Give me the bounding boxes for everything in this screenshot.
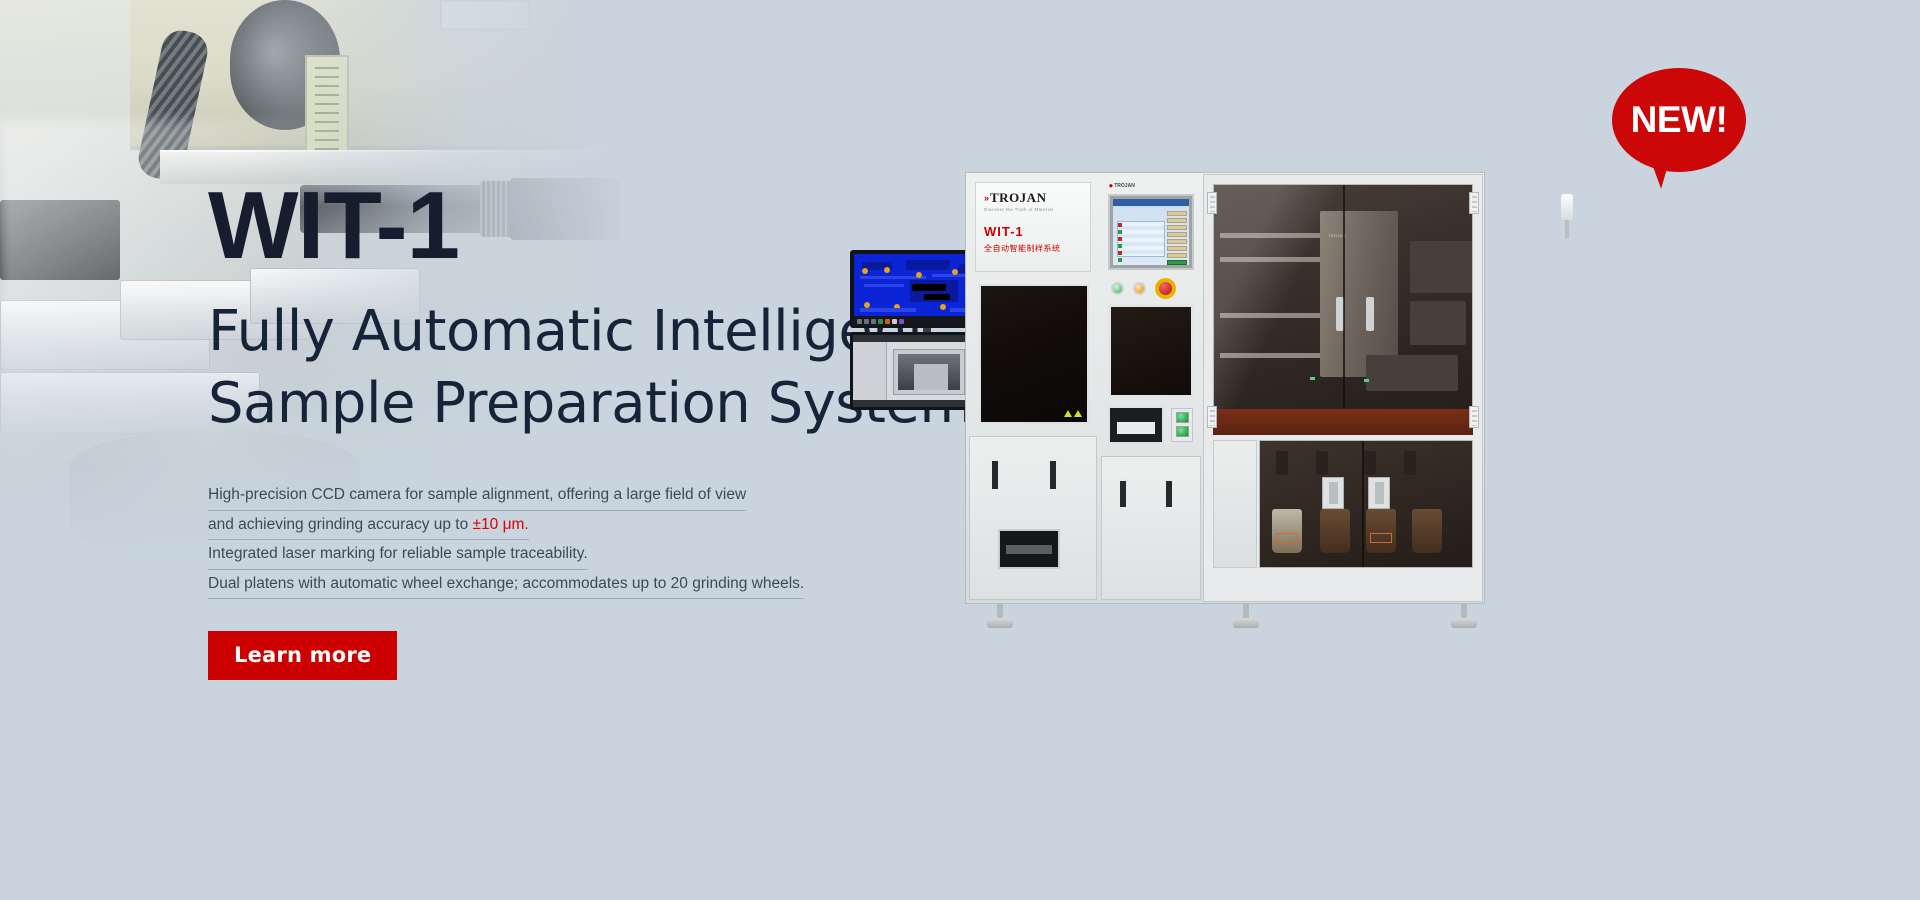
sample-access-slot (998, 529, 1060, 569)
door-hinge (1207, 192, 1217, 214)
module-control-panel: ◆ TROJAN (1101, 174, 1201, 602)
new-badge: NEW! (1612, 68, 1746, 172)
feature-item-2-highlight: ±10 μm. (473, 516, 529, 533)
lower-cabinet-door-left[interactable] (969, 436, 1097, 600)
door-handle[interactable] (1048, 459, 1058, 491)
door-hinge (1469, 192, 1479, 214)
reagent-bottle (1366, 509, 1396, 553)
page-title: Fully Automatic Intelligent Sample Prepa… (208, 296, 908, 439)
lower-cabinet-door-mid[interactable] (1101, 456, 1201, 600)
feature-item-2: and achieving grinding accuracy up to ±1… (208, 511, 529, 541)
tower-light-lens (1561, 194, 1573, 220)
signal-tower-light (1561, 194, 1573, 238)
feature-row: High-precision CCD camera for sample ali… (208, 481, 908, 511)
machine-foot (1451, 604, 1477, 628)
logo-arrows-icon: » (984, 193, 987, 203)
machine-model-label: WIT-1 (984, 224, 1082, 239)
learn-more-button[interactable]: Learn more (208, 631, 397, 680)
tower-light-stem (1565, 220, 1569, 238)
door-handle[interactable] (1118, 479, 1128, 509)
lower-glass-enclosure[interactable] (1259, 440, 1473, 568)
module-glass-cabinet: TROJAN (1203, 174, 1483, 602)
headline-line-2: Sample Preparation System (208, 368, 908, 440)
reagent-bottle (1320, 509, 1350, 553)
badge-label: NEW! (1631, 99, 1728, 141)
product-photo-wit1: » TROJAN Discover the Truth of Material … (845, 120, 1525, 640)
panel-brand-diamond-icon: ◆ (1109, 183, 1113, 189)
cabinet-side-panel (1213, 440, 1257, 568)
status-lamp-button[interactable] (1133, 282, 1146, 295)
hero-banner: WIT-1 Fully Automatic Intelligent Sample… (0, 0, 1920, 900)
feature-item-4: Dual platens with automatic wheel exchan… (208, 570, 804, 600)
inspection-window (979, 284, 1089, 424)
feature-item-1: High-precision CCD camera for sample ali… (208, 481, 746, 511)
module-button-pair[interactable] (1171, 408, 1193, 442)
feature-row: and achieving grinding accuracy up to ±1… (208, 511, 908, 541)
process-view-door[interactable] (1108, 304, 1194, 398)
feature-item-2-text: and achieving grinding accuracy up to (208, 516, 473, 533)
green-button-bottom[interactable] (1176, 426, 1189, 437)
door-handle[interactable] (1164, 479, 1174, 509)
feature-row: Dual platens with automatic wheel exchan… (208, 570, 908, 600)
machine-foot (1233, 604, 1259, 628)
start-lamp-button[interactable] (1111, 282, 1124, 295)
door-hinge (1207, 406, 1217, 428)
door-hinge (1469, 406, 1479, 428)
work-surface-rail (1213, 409, 1473, 435)
hmi-screen-content (1113, 199, 1189, 265)
feature-item-3: Integrated laser marking for reliable sa… (208, 540, 588, 570)
hero-copy: WIT-1 Fully Automatic Intelligent Sample… (208, 178, 908, 680)
reagent-bottle (1412, 509, 1442, 553)
product-wordmark: WIT-1 (208, 178, 908, 274)
panel-brand-mark: ◆ TROJAN (1109, 183, 1135, 189)
panel-brand-name: TROJAN (1114, 183, 1135, 189)
upper-glass-enclosure[interactable]: TROJAN (1213, 184, 1473, 434)
brand-tagline: Discover the Truth of Material (984, 207, 1082, 212)
trojan-logo: » TROJAN (984, 190, 1082, 206)
laser-marking-module (1108, 406, 1164, 444)
feature-row: Integrated laser marking for reliable sa… (208, 540, 908, 570)
badge-bubble: NEW! (1612, 68, 1746, 172)
machine-model-label-cn: 全自动智能制样系统 (984, 243, 1082, 254)
reagent-bottle (1272, 509, 1302, 553)
emergency-stop-button[interactable] (1155, 278, 1176, 299)
module-branding: » TROJAN Discover the Truth of Material … (967, 174, 1099, 602)
indicator-lamp-row (1111, 278, 1176, 299)
machine-cabinet: » TROJAN Discover the Truth of Material … (965, 172, 1485, 604)
green-button-top[interactable] (1176, 412, 1189, 423)
door-handle[interactable] (990, 459, 1000, 491)
hmi-touchscreen[interactable] (1108, 194, 1194, 270)
machine-foot (987, 604, 1013, 628)
warning-triangle-icon (1064, 410, 1082, 417)
headline-line-1: Fully Automatic Intelligent (208, 296, 908, 368)
brand-plate: » TROJAN Discover the Truth of Material … (975, 182, 1091, 272)
brand-name: TROJAN (990, 190, 1046, 206)
feature-list: High-precision CCD camera for sample ali… (208, 481, 908, 599)
